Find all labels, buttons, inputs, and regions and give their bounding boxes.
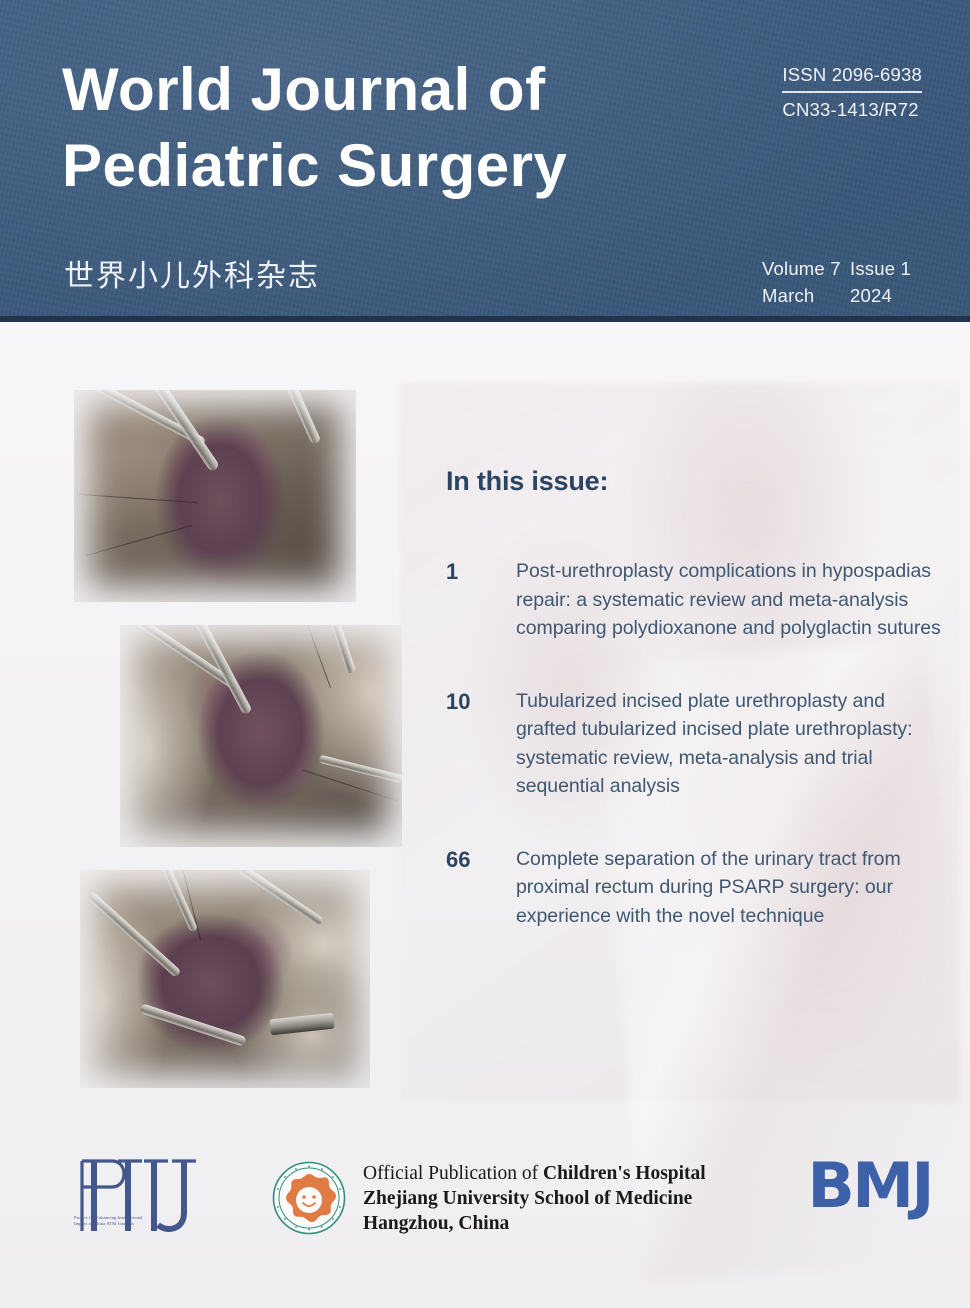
official-publication-text: Official Publication of Children's Hospi… <box>363 1161 763 1236</box>
issue-label: Issue 1 <box>850 255 922 282</box>
header-band: World Journal of Pediatric Surgery 世界小儿外… <box>0 0 970 322</box>
table-of-contents: In this issue: 1 Post-urethroplasty comp… <box>446 466 946 974</box>
in-this-issue-heading: In this issue: <box>446 466 946 497</box>
journal-title-line1: World Journal of <box>62 52 762 128</box>
piij-caption-line2: Impact of China STM Journals <box>74 1221 182 1227</box>
photo-1-vignette <box>74 390 356 602</box>
cover-footer: Project for Enhancing International Impa… <box>0 1135 970 1265</box>
toc-page-number: 66 <box>446 845 516 931</box>
toc-article-title: Post-urethroplasty complications in hypo… <box>516 557 946 643</box>
photo-3-vignette <box>80 870 370 1088</box>
volume-row: Volume 7 Issue 1 <box>762 255 922 282</box>
journal-cover: World Journal of Pediatric Surgery 世界小儿外… <box>0 0 970 1308</box>
journal-title: World Journal of Pediatric Surgery <box>62 52 762 204</box>
piij-logo: Project for Enhancing International Impa… <box>72 1153 204 1245</box>
journal-title-line2: Pediatric Surgery <box>62 128 762 204</box>
zhejiang-university-seal-icon <box>272 1161 346 1235</box>
toc-page-number: 1 <box>446 557 516 643</box>
piij-logo-icon <box>72 1153 204 1245</box>
surgical-photo-1 <box>74 390 356 602</box>
month-label: March <box>762 282 850 309</box>
toc-entry[interactable]: 66 Complete separation of the urinary tr… <box>446 845 946 931</box>
cn-number: CN33-1413/R72 <box>782 97 922 123</box>
photo-2-vignette <box>120 625 402 847</box>
issn-number: ISSN 2096-6938 <box>782 62 922 88</box>
bmj-logo[interactable]: BMJ <box>807 1155 932 1217</box>
official-line-3: Hangzhou, China <box>363 1211 763 1236</box>
volume-label: Volume 7 <box>762 255 850 282</box>
official-prefix: Official Publication of <box>363 1163 543 1184</box>
toc-page-number: 10 <box>446 687 516 801</box>
toc-article-title: Complete separation of the urinary tract… <box>516 845 946 931</box>
surgical-photo-2 <box>120 625 402 847</box>
official-hospital: Children's Hospital <box>543 1163 706 1184</box>
toc-entry[interactable]: 10 Tubularized incised plate urethroplas… <box>446 687 946 801</box>
official-line-1: Official Publication of Children's Hospi… <box>363 1161 763 1186</box>
surgical-photo-3 <box>80 870 370 1088</box>
date-row: March 2024 <box>762 282 922 309</box>
toc-article-title: Tubularized incised plate urethroplasty … <box>516 687 946 801</box>
piij-caption: Project for Enhancing International Impa… <box>74 1215 182 1227</box>
volume-issue-block: Volume 7 Issue 1 March 2024 <box>762 255 922 309</box>
journal-title-chinese: 世界小儿外科杂志 <box>64 251 320 295</box>
official-line-2: Zhejiang University School of Medicine <box>363 1186 763 1211</box>
year-label: 2024 <box>850 282 922 309</box>
toc-entry[interactable]: 1 Post-urethroplasty complications in hy… <box>446 557 946 643</box>
issn-divider <box>782 91 922 93</box>
issn-block: ISSN 2096-6938 CN33-1413/R72 <box>782 62 922 123</box>
